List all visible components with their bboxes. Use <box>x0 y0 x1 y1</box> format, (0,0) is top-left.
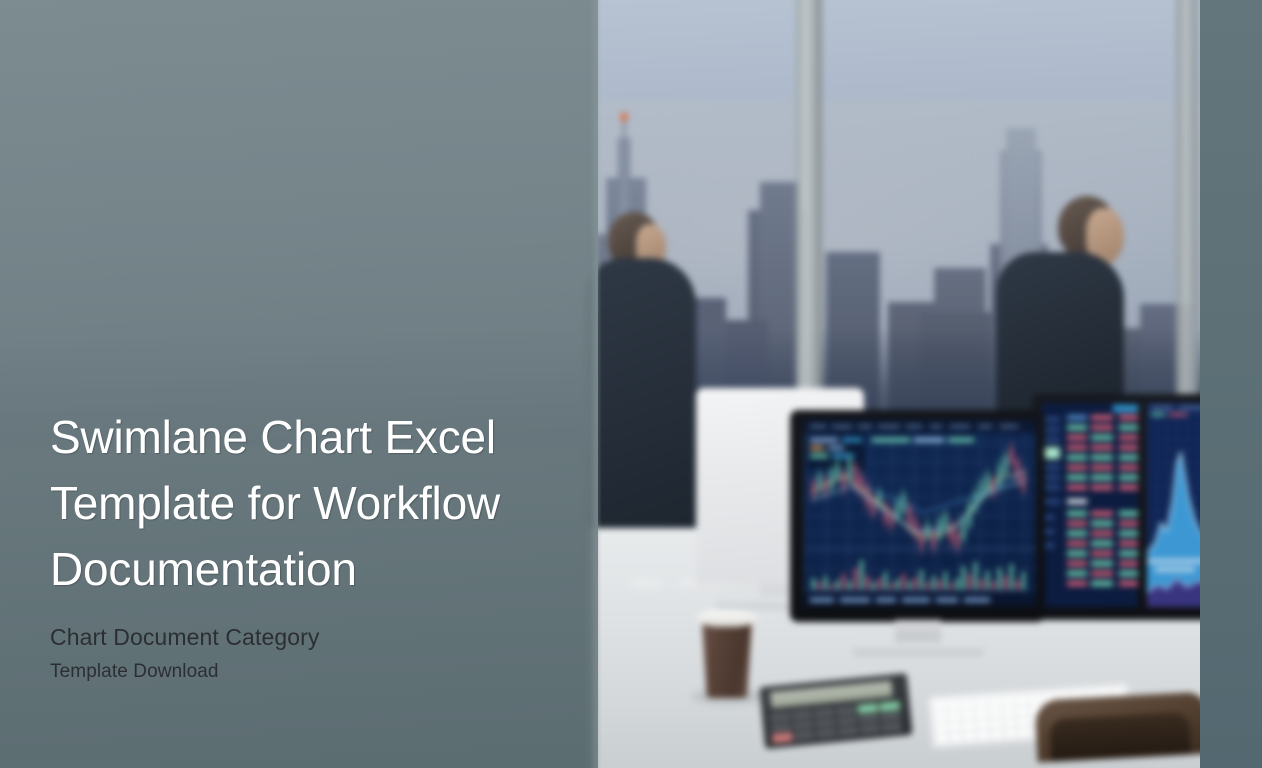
monitor-base <box>852 642 984 656</box>
subtitle-secondary: Template Download <box>50 659 219 685</box>
orderbook-screen <box>1041 403 1143 607</box>
window-mullion <box>796 0 822 410</box>
calculator-keys <box>770 701 902 743</box>
trading-monitor-orderbook <box>1032 394 1150 620</box>
panel-edge-highlight <box>590 0 602 768</box>
page-title: Swimlane Chart Excel Template for Workfl… <box>50 404 550 602</box>
leather-chair-seat <box>1049 712 1191 761</box>
right-panel-strip <box>1200 0 1262 768</box>
window-mullion-right <box>1176 0 1198 410</box>
mouse <box>630 576 664 589</box>
text-content-block: Swimlane Chart Excel Template for Workfl… <box>50 0 570 768</box>
trading-monitor-candlestick <box>790 410 1045 622</box>
candlestick-screen <box>804 420 1036 606</box>
coffee-cup-lid <box>696 610 758 627</box>
presentation-slide: Swimlane Chart Excel Template for Workfl… <box>0 0 1262 768</box>
subtitle-primary: Chart Document Category <box>50 622 319 652</box>
coffee-cup <box>702 620 752 698</box>
